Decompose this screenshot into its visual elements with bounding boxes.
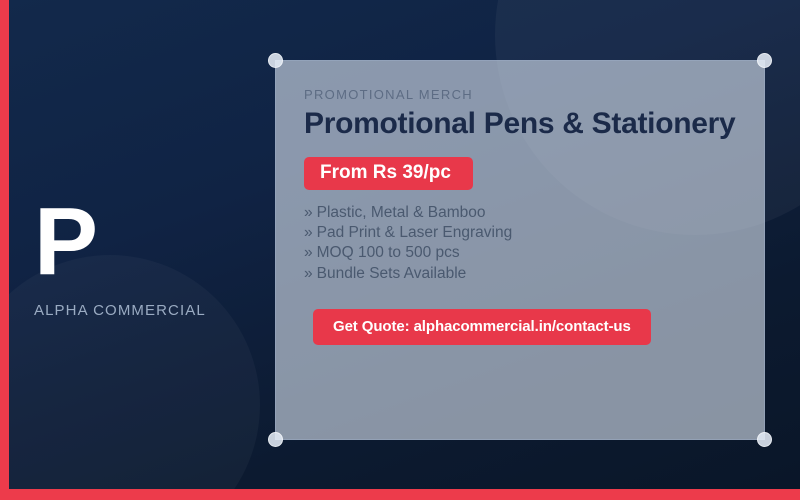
list-item: »MOQ 100 to 500 pcs <box>304 243 736 263</box>
feature-text: Plastic, Metal & Bamboo <box>317 204 486 221</box>
promo-card[interactable]: PROMOTIONAL MERCH Promotional Pens & Sta… <box>275 60 765 440</box>
feature-list: »Plastic, Metal & Bamboo »Pad Print & La… <box>304 203 736 285</box>
brand-block: P ALPHA COMMERCIAL <box>34 198 254 319</box>
feature-text: Bundle Sets Available <box>317 265 467 282</box>
list-item: »Pad Print & Laser Engraving <box>304 223 736 243</box>
accent-bar-bottom <box>0 489 800 500</box>
price-badge: From Rs 39/pc <box>304 157 473 190</box>
get-quote-button[interactable]: Get Quote: alphacommercial.in/contact-us <box>313 309 651 345</box>
resize-handle-top-left[interactable] <box>268 53 283 68</box>
resize-handle-top-right[interactable] <box>757 53 772 68</box>
bullet-marker-icon: » <box>304 265 313 282</box>
card-eyebrow: PROMOTIONAL MERCH <box>304 87 736 102</box>
resize-handle-bottom-left[interactable] <box>268 432 283 447</box>
accent-bar-left <box>0 0 9 500</box>
feature-text: MOQ 100 to 500 pcs <box>317 244 460 261</box>
brand-name: ALPHA COMMERCIAL <box>34 302 254 319</box>
promo-banner: P ALPHA COMMERCIAL PROMOTIONAL MERCH Pro… <box>0 0 800 500</box>
card-headline: Promotional Pens & Stationery <box>304 107 736 142</box>
brand-monogram: P <box>34 198 254 286</box>
feature-text: Pad Print & Laser Engraving <box>317 224 513 241</box>
bullet-marker-icon: » <box>304 244 313 261</box>
resize-handle-bottom-right[interactable] <box>757 432 772 447</box>
list-item: »Bundle Sets Available <box>304 264 736 284</box>
list-item: »Plastic, Metal & Bamboo <box>304 203 736 223</box>
bullet-marker-icon: » <box>304 204 313 221</box>
bullet-marker-icon: » <box>304 224 313 241</box>
